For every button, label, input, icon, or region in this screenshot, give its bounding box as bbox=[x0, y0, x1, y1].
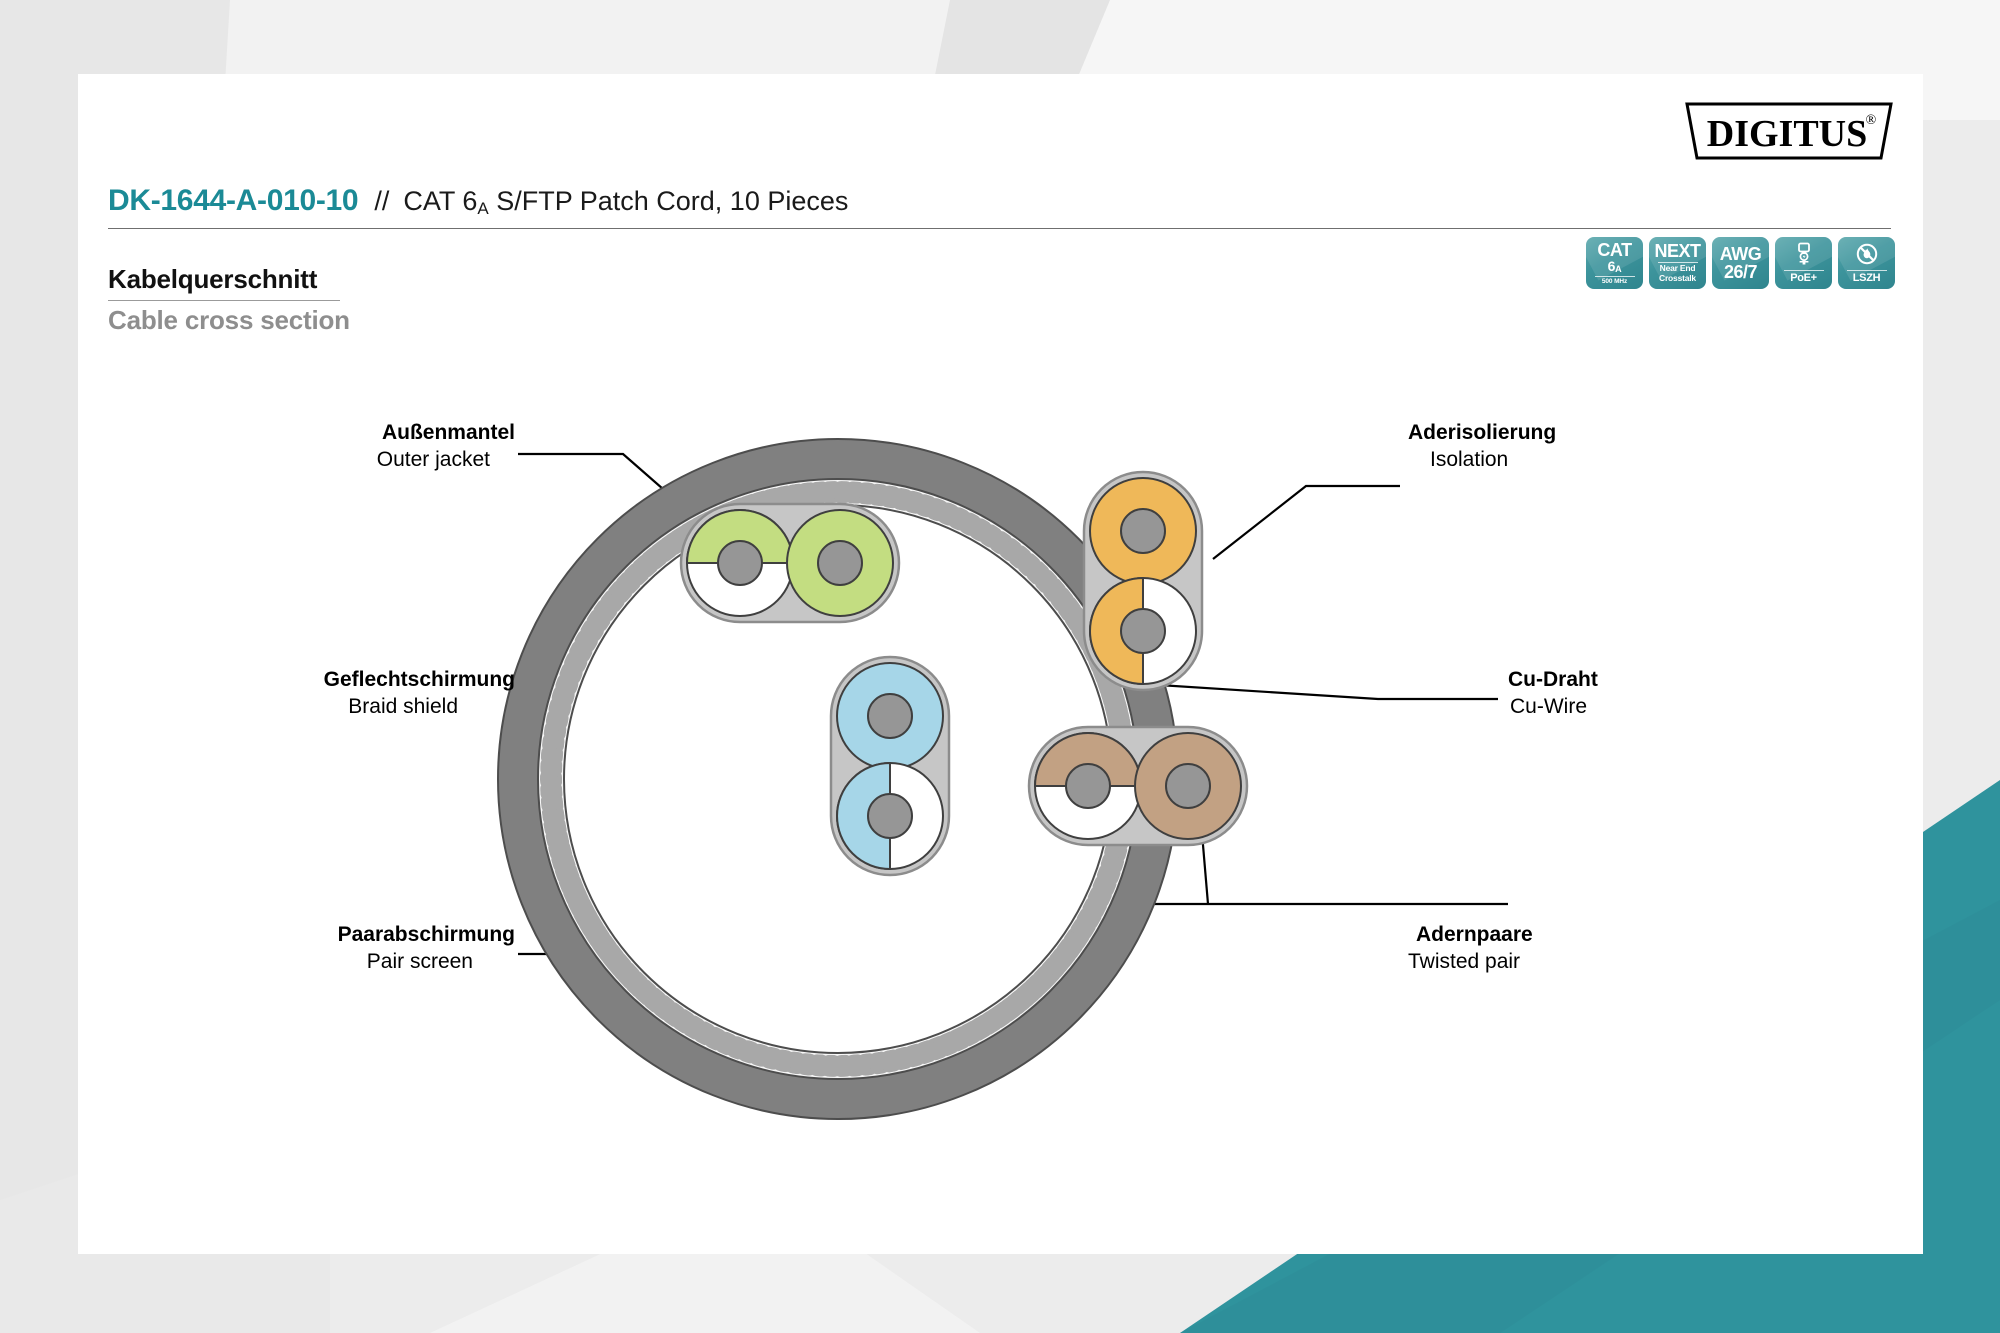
logo-svg: DIGITUS ® bbox=[1683, 100, 1895, 162]
callout-cu-wire-de: Cu-Draht bbox=[1508, 668, 1598, 691]
part-number: DK-1644-A-010-10 bbox=[108, 184, 358, 218]
blue-wire-striped bbox=[837, 763, 943, 869]
blue-wire-striped-conductor bbox=[868, 794, 912, 838]
badge-poe-divider bbox=[1784, 270, 1824, 271]
blue-wire-solid-conductor bbox=[868, 694, 912, 738]
title-separator: // bbox=[374, 186, 389, 217]
section-heading-divider bbox=[108, 300, 340, 301]
badge-lszh-label: LSZH bbox=[1853, 272, 1881, 284]
orange-wire-striped-conductor bbox=[1121, 609, 1165, 653]
badge-poe: PoE+ bbox=[1775, 237, 1832, 289]
brown-wire-striped bbox=[1035, 733, 1141, 839]
green-wire-solid-conductor bbox=[818, 541, 862, 585]
badge-next-line1: NEXT bbox=[1654, 242, 1700, 260]
digitus-logo: DIGITUS ® bbox=[1683, 100, 1895, 162]
orange-wire-solid-conductor bbox=[1121, 509, 1165, 553]
product-title: CAT 6A S/FTP Patch Cord, 10 Pieces bbox=[403, 186, 848, 217]
badge-cat6a-divider bbox=[1595, 276, 1635, 277]
callout-outer-jacket-en: Outer jacket bbox=[377, 448, 490, 471]
green-wire-striped bbox=[687, 510, 793, 616]
no-flame-icon bbox=[1854, 242, 1880, 268]
callout-pair-screen-de: Paarabschirmung bbox=[338, 923, 515, 946]
callout-pair-screen-en: Pair screen bbox=[367, 950, 473, 973]
section-heading-de: Kabelquerschnitt bbox=[108, 264, 350, 295]
product-title-post: S/FTP Patch Cord, 10 Pieces bbox=[489, 186, 849, 216]
blue-wire-solid bbox=[837, 663, 943, 769]
section-heading: Kabelquerschnitt Cable cross section bbox=[108, 264, 350, 336]
badge-next: NEXT Near End Crosstalk bbox=[1649, 237, 1706, 289]
brown-wire-solid-conductor bbox=[1166, 764, 1210, 808]
callout-isolation-en: Isolation bbox=[1430, 448, 1508, 471]
section-heading-en: Cable cross section bbox=[108, 305, 350, 336]
green-wire-striped-conductor bbox=[718, 541, 762, 585]
product-title-pre: CAT 6 bbox=[403, 186, 477, 216]
callout-braid-shield-de: Geflechtschirmung bbox=[324, 668, 515, 691]
leader-isolation bbox=[1213, 486, 1400, 559]
badge-poe-label: PoE+ bbox=[1790, 272, 1817, 284]
green-pair bbox=[681, 504, 899, 622]
badge-next-line3: Crosstalk bbox=[1659, 274, 1696, 284]
orange-wire-solid bbox=[1090, 478, 1196, 584]
brown-wire-striped-conductor bbox=[1066, 764, 1110, 808]
feature-badges: CAT 6A 500 MHz NEXT Near End Crosstalk A… bbox=[1586, 237, 1895, 289]
logo-wordmark: DIGITUS bbox=[1707, 113, 1868, 155]
badge-cat6a-line2: 6A bbox=[1608, 259, 1622, 274]
badge-cat6a-line1: CAT bbox=[1597, 241, 1631, 259]
orange-wire-striped bbox=[1090, 578, 1196, 684]
product-title-subscript: A bbox=[477, 199, 488, 218]
badge-cat6a: CAT 6A 500 MHz bbox=[1586, 237, 1643, 289]
product-title-row: DK-1644-A-010-10 // CAT 6A S/FTP Patch C… bbox=[108, 184, 1891, 218]
diagram-svg: Außenmantel Outer jacket Geflechtschirmu… bbox=[78, 374, 1923, 1184]
badge-lszh-divider bbox=[1847, 270, 1887, 271]
logo-registered-mark: ® bbox=[1866, 113, 1877, 128]
badge-awg-line2: 26/7 bbox=[1724, 263, 1757, 281]
badge-awg-line1: AWG bbox=[1720, 245, 1762, 263]
cable-cross-section-diagram: Außenmantel Outer jacket Geflechtschirmu… bbox=[78, 374, 1923, 1184]
title-divider bbox=[108, 228, 1891, 229]
leader-cu-wire bbox=[1143, 684, 1498, 699]
content-card: DIGITUS ® DK-1644-A-010-10 // CAT 6A S/F… bbox=[78, 74, 1923, 1254]
brown-wire-solid bbox=[1135, 733, 1241, 839]
blue-pair bbox=[831, 657, 949, 875]
rj45-connector-icon bbox=[1791, 242, 1817, 268]
callout-twisted-pair-de: Adernpaare bbox=[1416, 923, 1533, 946]
green-wire-solid bbox=[787, 510, 893, 616]
callout-braid-shield-en: Braid shield bbox=[348, 695, 458, 718]
callout-twisted-pair-en: Twisted pair bbox=[1408, 950, 1520, 973]
badge-lszh: LSZH bbox=[1838, 237, 1895, 289]
brown-pair bbox=[1029, 727, 1247, 845]
callout-outer-jacket-de: Außenmantel bbox=[382, 421, 515, 444]
badge-cat6a-line3: 500 MHz bbox=[1602, 278, 1627, 285]
callout-cu-wire-en: Cu-Wire bbox=[1510, 695, 1587, 718]
callout-isolation-de: Aderisolierung bbox=[1408, 421, 1556, 444]
badge-awg: AWG 26/7 bbox=[1712, 237, 1769, 289]
orange-pair bbox=[1084, 472, 1202, 690]
